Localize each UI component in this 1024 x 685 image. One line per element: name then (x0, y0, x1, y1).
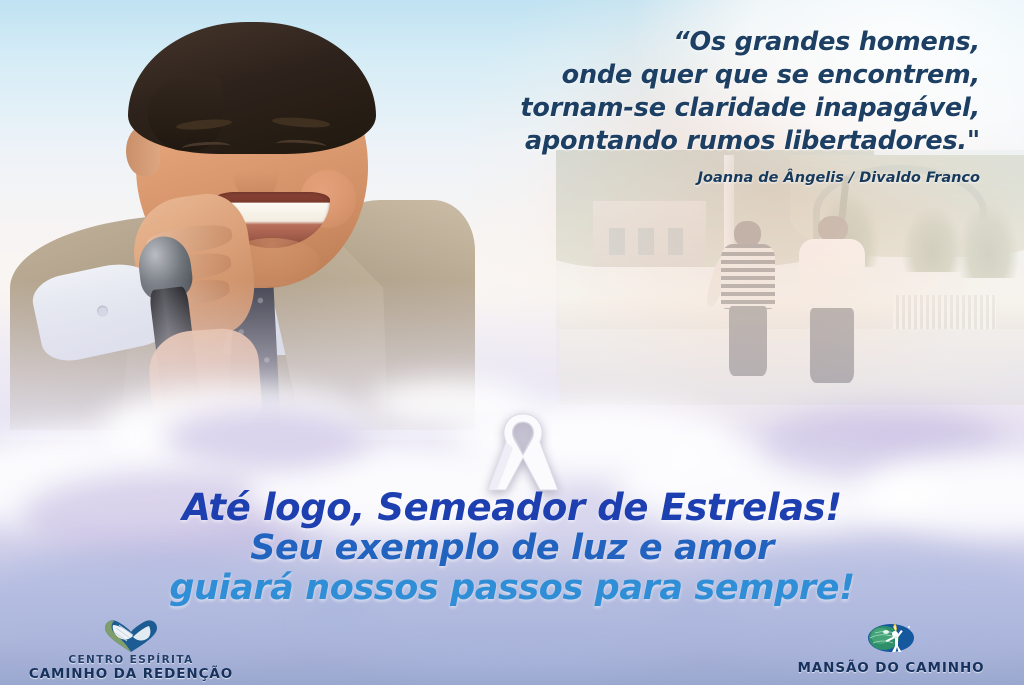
quote-text: “Os grandes homens, onde quer que se enc… (420, 26, 980, 158)
headline-line-3: guiará nossos passos para sempre! (0, 568, 1024, 608)
logo-left-line-1: CENTRO ESPÍRITA (6, 654, 256, 666)
hair (128, 22, 376, 154)
quote-line-2: onde quer que se encontrem, (420, 59, 980, 92)
quote-line-1: “Os grandes homens, (420, 26, 980, 59)
logo-mansao-do-caminho: MANSÃO DO CAMINHO (766, 618, 1016, 676)
logo-right-line-1: MANSÃO DO CAMINHO (766, 660, 1016, 676)
logo-centro-espirita-caminho-da-redencao: CENTRO ESPÍRITA CAMINHO DA REDENÇÃO (6, 618, 256, 682)
quote-line-4: apontando rumos libertadores." (420, 125, 980, 158)
quote-line-3: tornam-se claridade inapagável, (420, 92, 980, 125)
headline-line-1: Até logo, Semeador de Estrelas! (0, 487, 1024, 528)
globe-figure-flame-logo-icon (766, 618, 1016, 654)
headline-line-2: Seu exemplo de luz e amor (0, 528, 1024, 568)
memorial-poster: “Os grandes homens, onde quer que se enc… (0, 0, 1024, 685)
memorial-headline: Até logo, Semeador de Estrelas! Seu exem… (0, 487, 1024, 608)
heart-hands-logo-icon (6, 618, 256, 654)
logo-left-line-2: CAMINHO DA REDENÇÃO (6, 666, 256, 682)
white-mourning-ribbon-icon (480, 408, 566, 496)
quote-attribution: Joanna de Ângelis / Divaldo Franco (420, 170, 980, 186)
